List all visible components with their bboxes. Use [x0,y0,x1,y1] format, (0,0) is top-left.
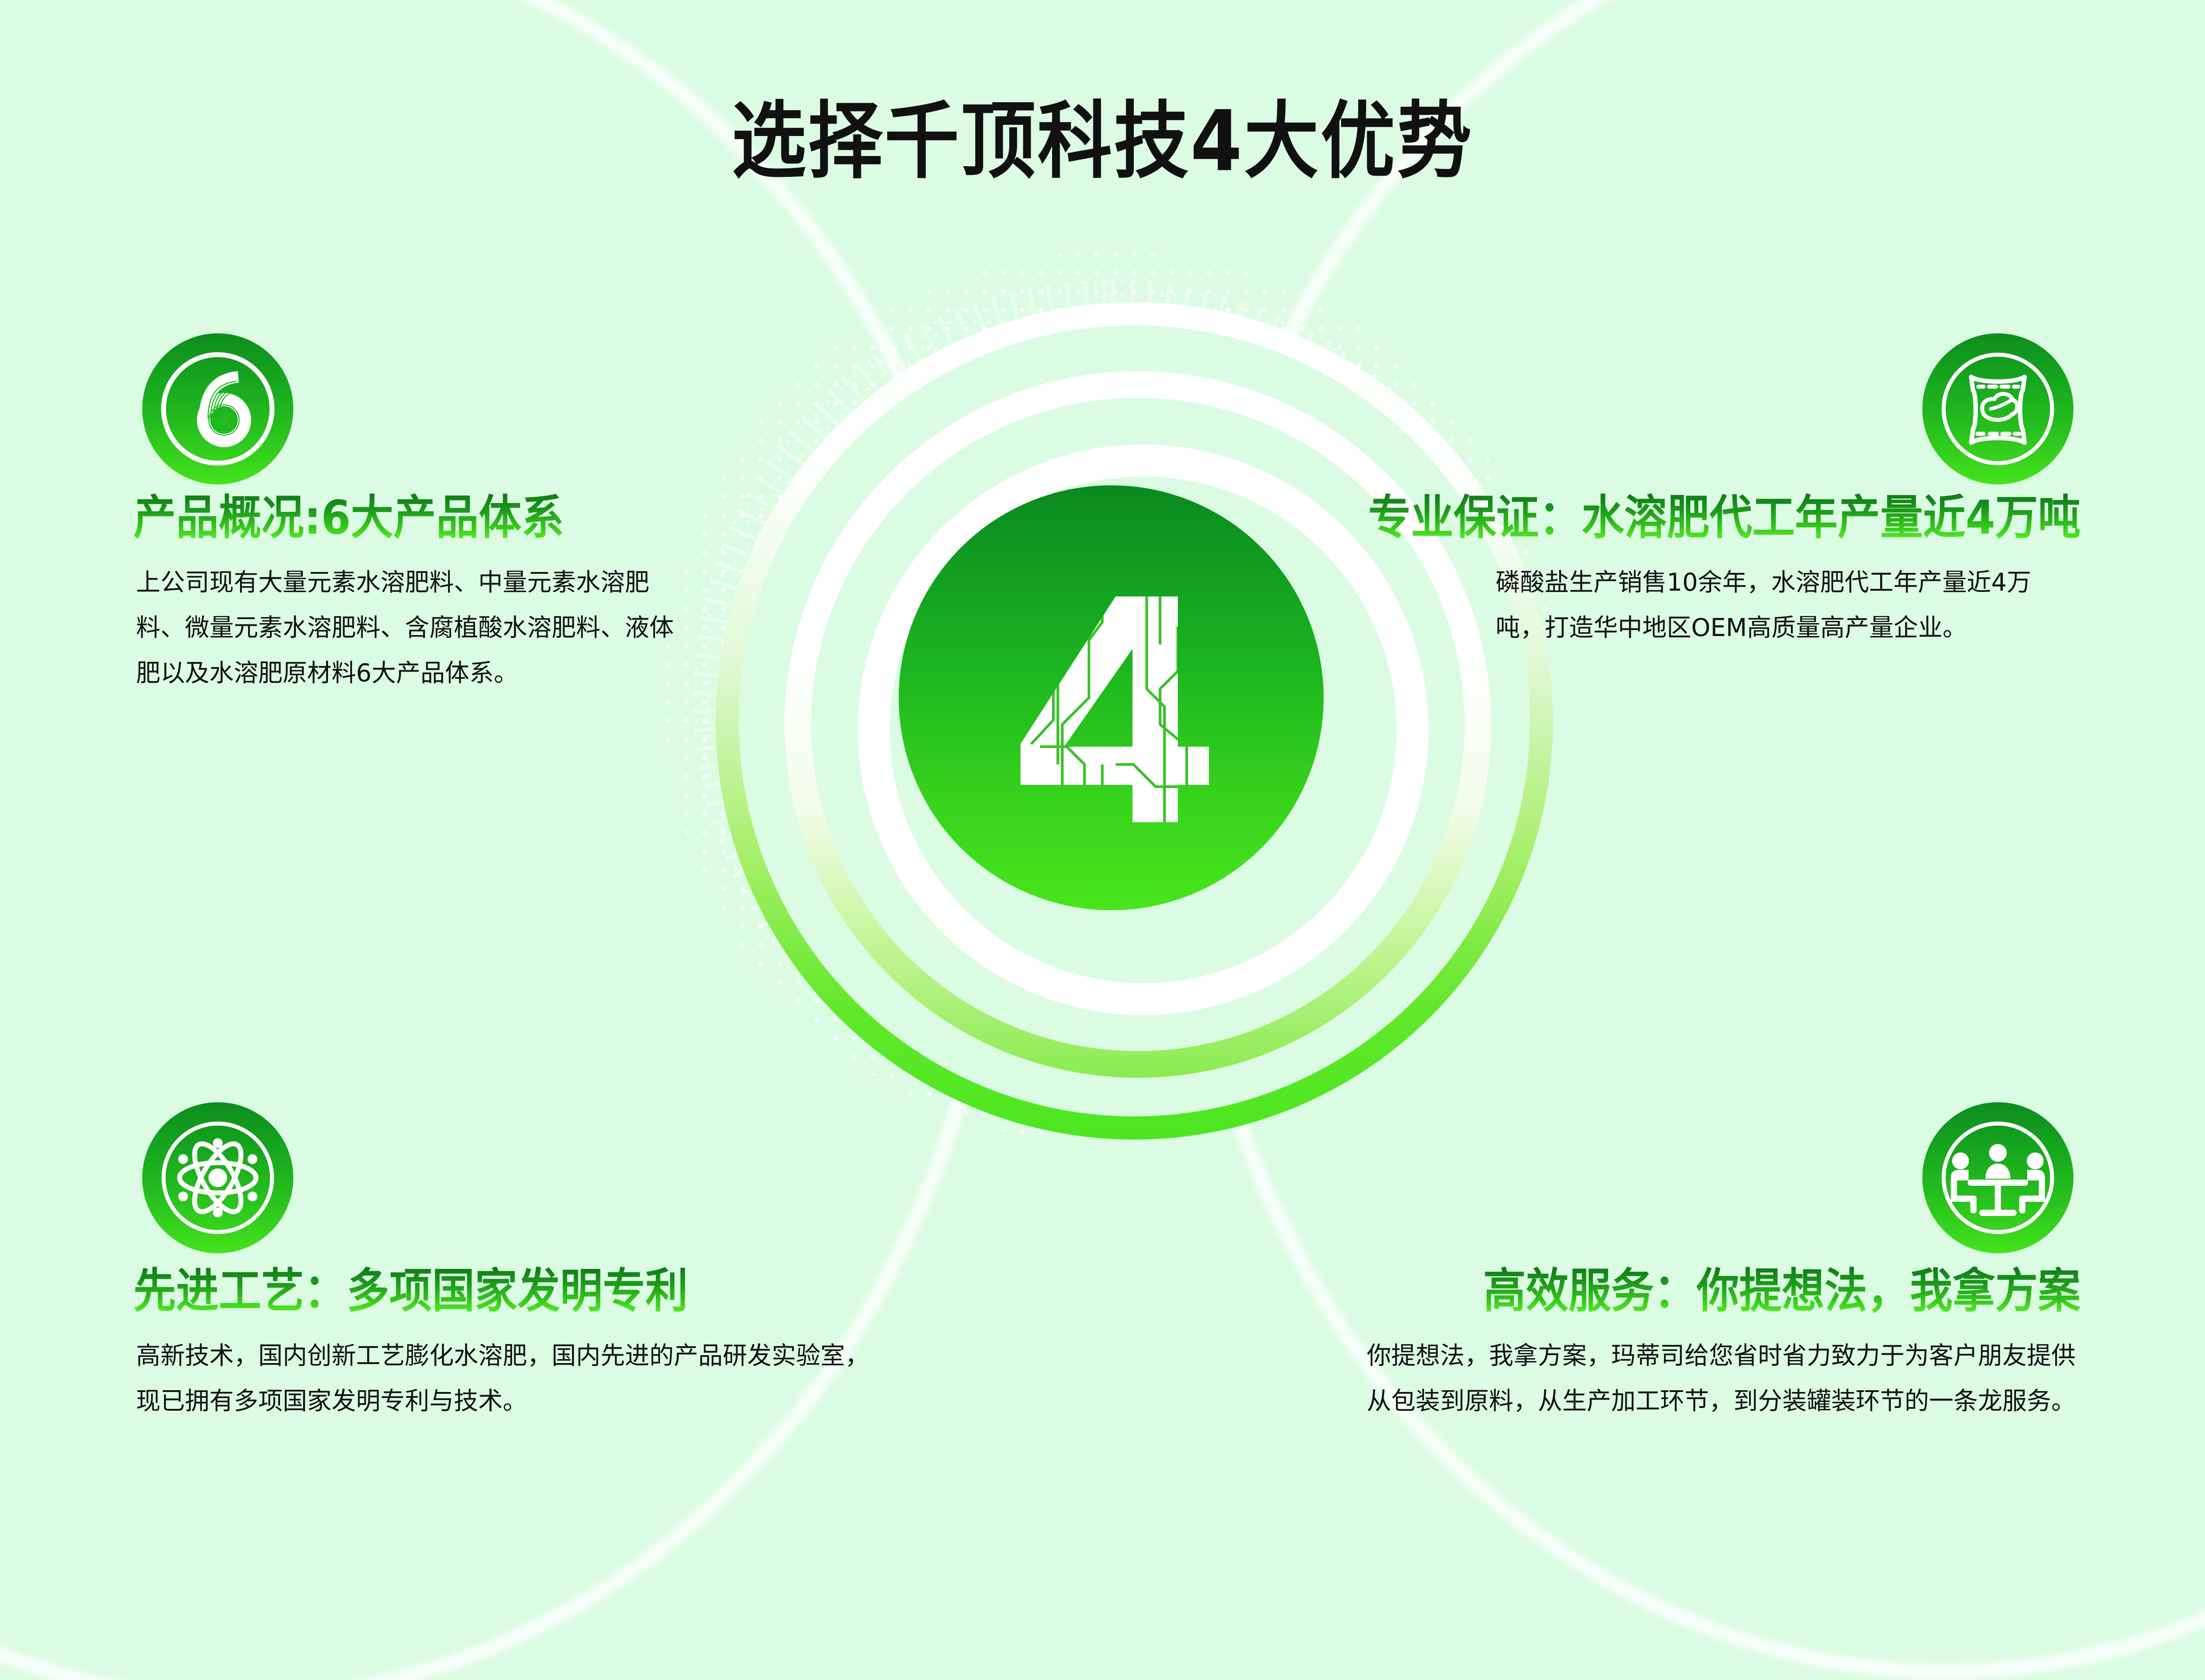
meeting-team-icon [1922,1102,2073,1253]
edge-arc-right [1175,0,2205,1679]
page-title: 选择千顶科技4大优势 [0,73,2205,194]
advantage-heading: 专业保证：水溶肥代工年产量近4万吨 [1368,493,2081,543]
advantage-body: 高新技术，国内创新工艺膨化水溶肥，国内先进的产品研发实验室，现已拥有多项国家发明… [136,1333,892,1424]
infographic-canvas: 选择千顶科技4大优势 [0,0,2205,1680]
advantage-body: 磷酸盐生产销售10余年，水溶肥代工年产量近4万吨，打造华中地区OEM高质量高产量… [1496,560,2078,651]
edge-arc-left [0,0,1008,1680]
number-six-icon [142,333,293,484]
advantage-body: 你提想法，我拿方案，玛蒂司给您省时省力致力于为客户朋友提供从包装到原料，从生产加… [1367,1333,2078,1424]
fertilizer-bag-icon [1922,333,2073,484]
atom-icon [142,1102,293,1253]
advantage-body: 上公司现有大量元素水溶肥料、中量元素水溶肥料、微量元素水溶肥料、含腐植酸水溶肥料… [136,560,687,696]
advantage-heading: 先进工艺：多项国家发明专利 [133,1267,688,1316]
advantage-heading: 产品概况:6大产品体系 [133,493,564,543]
center-number-emblem [899,485,1324,910]
center-numeral-four [899,485,1324,910]
advantage-heading: 高效服务：你提想法，我拿方案 [1483,1267,2081,1316]
